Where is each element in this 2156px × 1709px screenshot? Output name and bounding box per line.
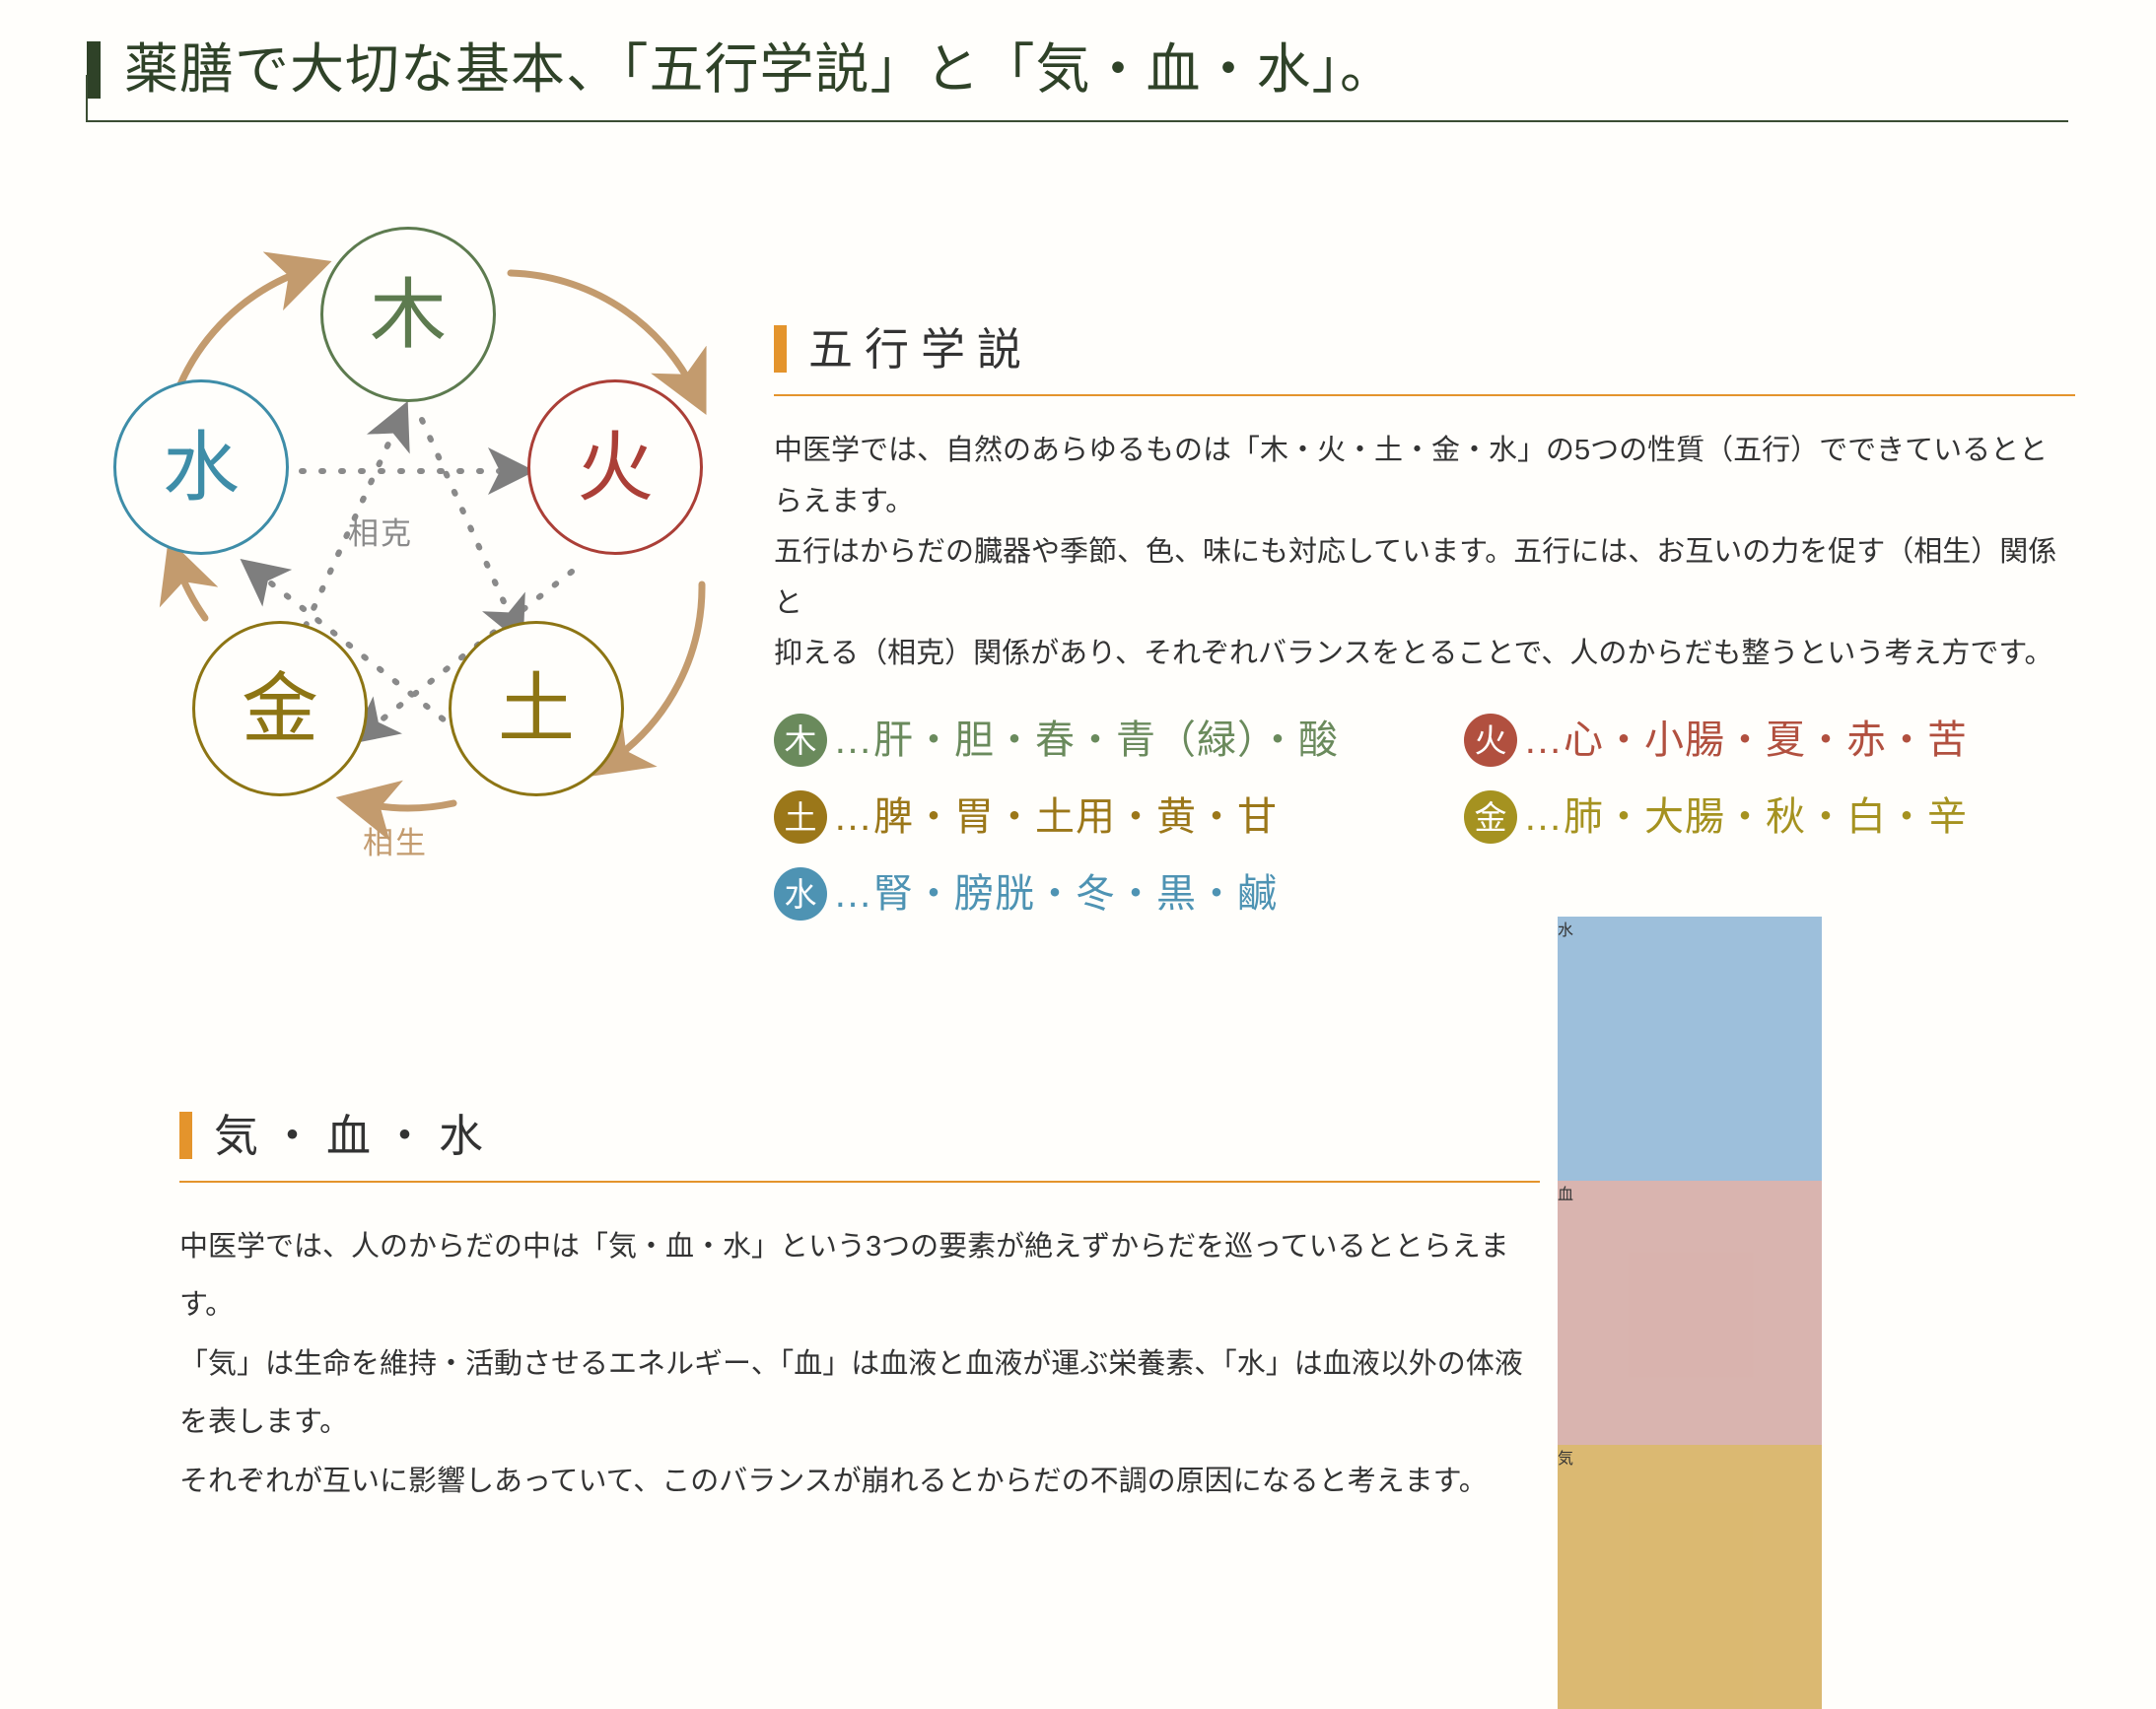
badge-earth: 土 [774,790,827,844]
ki-ketsu-sui-venn-diagram: 水 血 気 [1558,917,2090,1409]
badge-wood: 木 [774,714,827,767]
correspondence-list: 木 …肝・胆・春・青（緑）・酸 火 …心・小腸・夏・赤・苦 土 …脾・胃・土用・… [774,714,2075,921]
badge-water: 水 [774,867,827,921]
element-label-water: 水 [163,429,240,506]
gogyo-body-line-2: 五行はからだの臓器や季節、色、味にも対応しています。五行には、お互いの力を促す（… [774,527,2075,629]
label-soukoku: 相克 [348,509,413,553]
correspondence-text-water: …腎・膀胱・冬・黒・鹹 [833,874,1278,914]
correspondence-row-fire: 火 …心・小腸・夏・赤・苦 [1464,714,2075,767]
correspondence-row-water: 水 …腎・膀胱・冬・黒・鹹 [774,867,1464,921]
element-label-fire: 火 [577,429,654,506]
ki-ketsu-sui-section: 気・血・水 中医学では、人のからだの中は「気・血・水」という3つの要素が絶えずか… [179,1112,1540,1511]
element-circle-wood: 木 [320,227,496,402]
venn-label-water: 水 [1558,923,1573,939]
kks-body-line-3: それぞれが互いに影響しあっていて、このバランスが崩れるとからだの不調の原因になる… [179,1453,1540,1511]
badge-metal: 金 [1464,790,1517,844]
gogyo-body-line-3: 抑える（相克）関係があり、それぞれバランスをとることで、人のからだも整うという考… [774,629,2075,680]
venn-label-qi: 気 [1558,1451,1573,1468]
infographic-page: 薬膳で大切な基本、「五行学説」と「気・血・水」。 [0,0,2156,1534]
element-circle-earth: 土 [449,621,624,796]
kks-body-text: 中医学では、人のからだの中は「気・血・水」という3つの要素が絶えずからだを巡って… [179,1218,1540,1511]
badge-label-earth: 土 [785,801,817,834]
page-title: 薬膳で大切な基本、「五行学説」と「気・血・水」。 [124,41,1395,99]
gogyo-heading-rule [774,394,2075,396]
kks-heading-row: 気・血・水 [179,1112,1540,1159]
correspondence-text-metal: …肺・大腸・秋・白・辛 [1523,797,1968,837]
kks-body-line-1: 中医学では、人のからだの中は「気・血・水」という3つの要素が絶えずからだを巡って… [179,1218,1540,1335]
badge-label-metal: 金 [1475,801,1507,834]
kks-heading-rule [179,1181,1540,1183]
badge-label-fire: 火 [1475,724,1507,757]
title-accent-bar [87,41,101,99]
label-sousei: 相生 [363,818,428,862]
gogyo-body-line-1: 中医学では、自然のあらゆるものは「木・火・土・金・水」の5つの性質（五行）ででき… [774,426,2075,527]
venn-circle-water: 水 [1558,917,1822,1181]
gogyo-gakusetsu-section: 五行学説 中医学では、自然のあらゆるものは「木・火・土・金・水」の5つの性質（五… [774,325,2075,921]
badge-label-wood: 木 [785,724,817,757]
correspondence-text-wood: …肝・胆・春・青（緑）・酸 [833,720,1339,760]
badge-fire: 火 [1464,714,1517,767]
gogyo-heading-row: 五行学説 [774,325,2075,373]
correspondence-row-earth: 土 …脾・胃・土用・黄・甘 [774,790,1464,844]
correspondence-text-fire: …心・小腸・夏・赤・苦 [1523,720,1968,760]
venn-circle-qi: 気 [1558,1445,1822,1709]
element-circle-water: 水 [113,379,289,555]
five-elements-diagram: 木 火 土 金 水 相克 相生 [108,227,739,877]
kks-heading: 気・血・水 [214,1114,495,1158]
element-label-earth: 土 [498,670,575,747]
correspondence-text-earth: …脾・胃・土用・黄・甘 [833,797,1278,837]
page-title-block: 薬膳で大切な基本、「五行学説」と「気・血・水」。 [87,41,2068,122]
gogyo-heading: 五行学説 [808,327,1033,372]
venn-label-blood: 血 [1558,1187,1573,1203]
correspondence-row-wood: 木 …肝・胆・春・青（緑）・酸 [774,714,1464,767]
badge-label-water: 水 [785,878,817,911]
kks-body-line-2: 「気」は生命を維持・活動させるエネルギー、「血」は血液と血液が運ぶ栄養素、「水」… [179,1335,1540,1453]
correspondence-row-metal: 金 …肺・大腸・秋・白・辛 [1464,790,2075,844]
kks-accent-bar [179,1112,192,1159]
element-label-wood: 木 [370,276,447,353]
venn-circle-blood: 血 [1558,1181,1822,1445]
gogyo-body-text: 中医学では、自然のあらゆるものは「木・火・土・金・水」の5つの性質（五行）ででき… [774,426,2075,680]
element-circle-fire: 火 [527,379,703,555]
gogyo-accent-bar [774,325,787,373]
element-circle-metal: 金 [192,621,368,796]
element-label-metal: 金 [242,670,318,747]
